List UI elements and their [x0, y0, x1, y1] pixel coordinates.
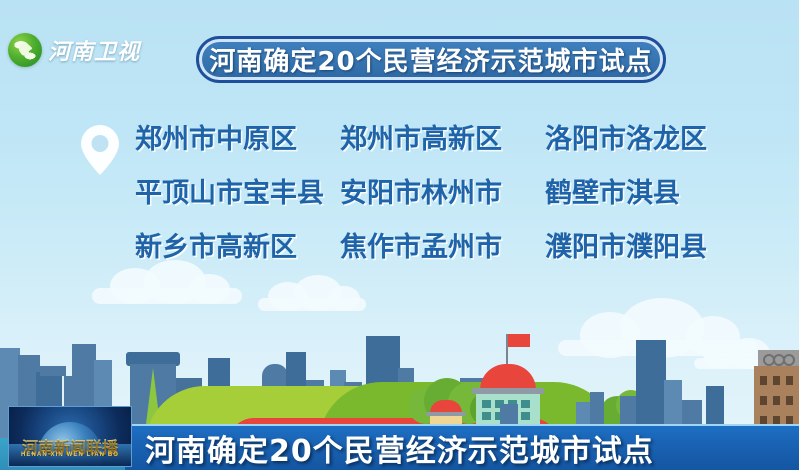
city-list: 郑州市中原区 郑州市高新区 洛阳市洛龙区 平顶山市宝丰县 安阳市林州市 鹤壁市淇… [135, 120, 775, 268]
city-item: 新乡市高新区 [135, 228, 340, 268]
station-logo-label: 河南卫视 [48, 34, 140, 66]
lower-third-bar: 河南确定20个民营经济示范城市试点 [125, 424, 799, 470]
city-item: 洛阳市洛龙区 [545, 120, 745, 160]
broadcast-screen: 河南卫视 河南确定20个民营经济示范城市试点 郑州市中原区 郑州市高新区 洛阳市… [0, 0, 799, 470]
location-pin-icon [80, 124, 120, 176]
city-item: 焦作市孟州市 [340, 228, 545, 268]
city-item: 濮阳市濮阳县 [545, 228, 745, 268]
headline-banner-text: 河南确定20个民营经济示范城市试点 [209, 41, 652, 78]
program-logo: 河南新闻联播 HENAN XIN WEN LIAN BO [8, 406, 132, 467]
city-item: 平顶山市宝丰县 [135, 174, 340, 214]
city-item: 鹤壁市淇县 [545, 174, 745, 214]
headline-banner: 河南确定20个民营经济示范城市试点 [196, 36, 666, 83]
program-logo-pinyin: HENAN XIN WEN LIAN BO [9, 452, 131, 458]
lower-third-text: 河南确定20个民营经济示范城市试点 [145, 426, 654, 470]
city-item: 安阳市林州市 [340, 174, 545, 214]
henan-tv-globe-icon [8, 33, 42, 67]
headline-banner-inner: 河南确定20个民营经济示范城市试点 [202, 42, 660, 77]
skyline-building [36, 366, 66, 376]
city-item: 郑州市中原区 [135, 120, 340, 160]
city-item: 郑州市高新区 [340, 120, 545, 160]
station-logo: 河南卫视 [8, 33, 140, 67]
